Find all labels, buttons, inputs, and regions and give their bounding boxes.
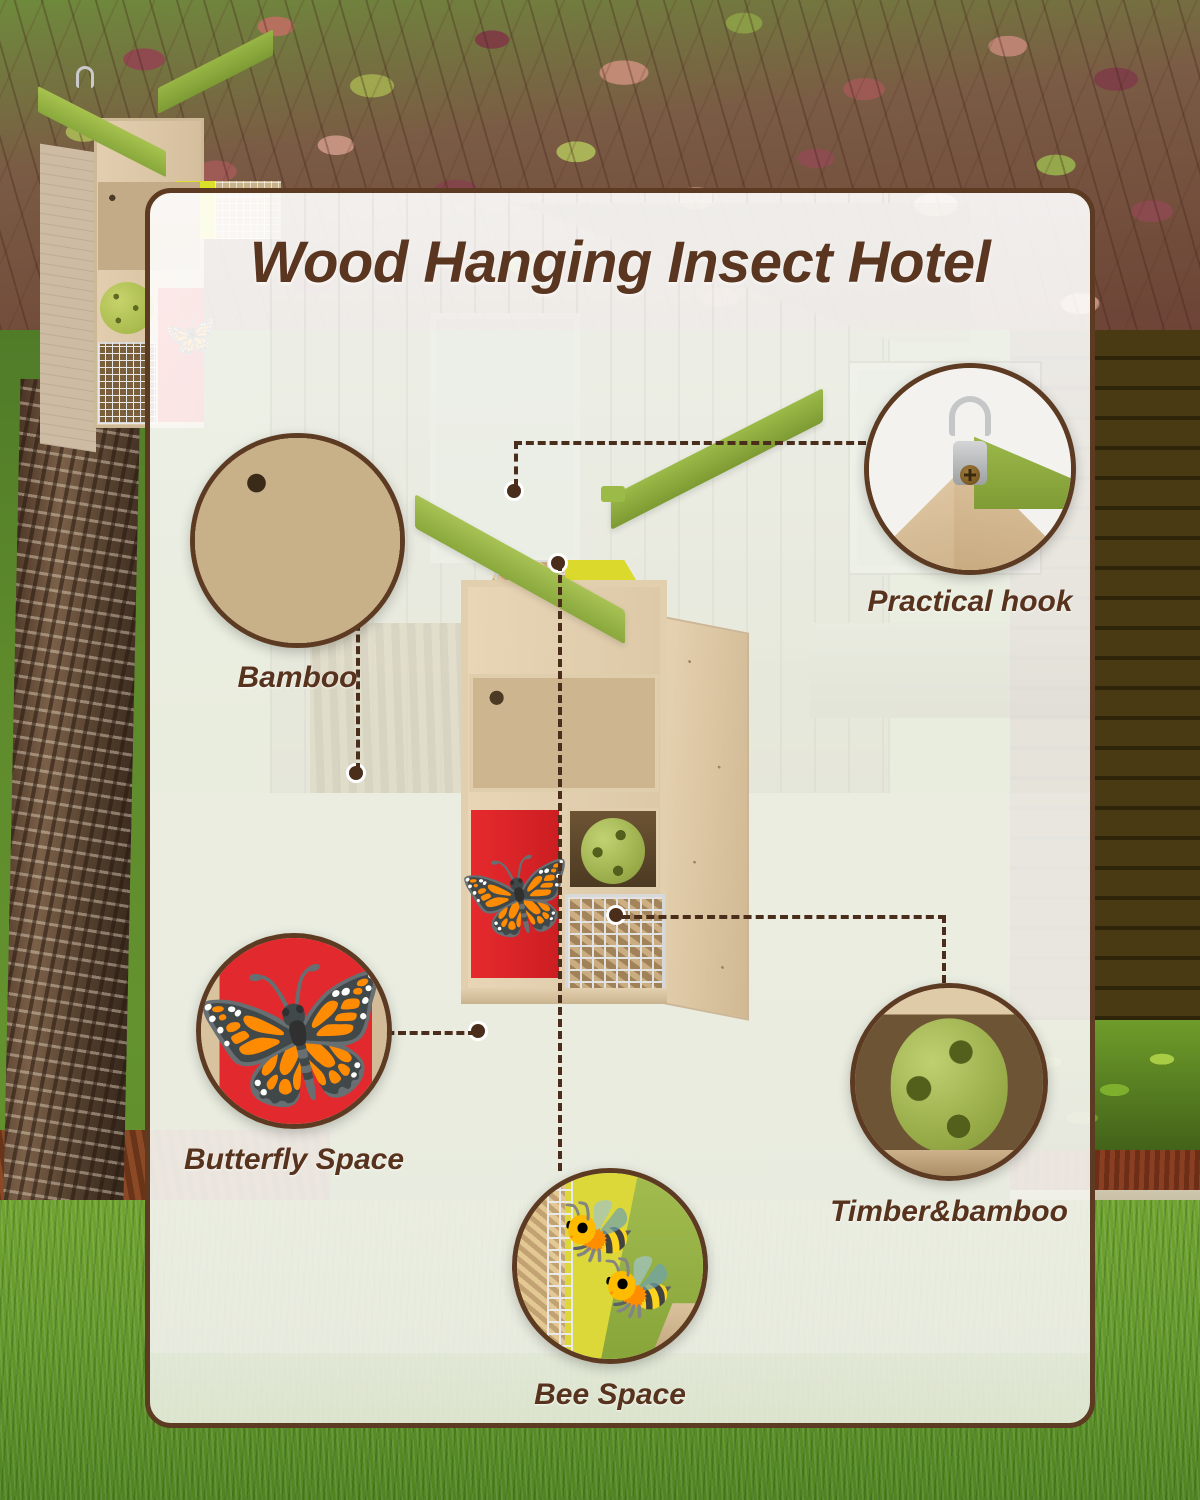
timber-log-compartment	[567, 808, 659, 890]
inset-side-wall	[40, 144, 96, 453]
callout-timber-bamboo[interactable]: Timber&bamboo	[850, 983, 1048, 1181]
callout-label-bamboo: Bamboo	[238, 661, 358, 695]
bee-cutout-icon: 🐝 🐝	[512, 1168, 708, 1364]
d-ring-hook-icon	[864, 363, 1076, 575]
drilled-log-icon	[850, 983, 1048, 1181]
callout-label-practical-hook: Practical hook	[867, 585, 1072, 619]
bamboo-tube-section	[469, 674, 659, 792]
product-side-wall	[663, 616, 749, 1021]
product-base	[461, 988, 667, 1004]
butterfly-cutout-icon: 🦋	[196, 933, 392, 1129]
connector-hook-horizontal	[514, 441, 866, 445]
bamboo-tubes-icon	[190, 433, 405, 648]
callout-label-timber-bamboo: Timber&bamboo	[830, 1195, 1068, 1229]
connector-bee-vertical	[558, 563, 562, 1171]
planter-box	[810, 623, 1095, 718]
callout-butterfly-space[interactable]: 🦋 Butterfly Space	[196, 933, 392, 1129]
butterfly-space-panel: 🦋	[471, 810, 559, 978]
butterfly-icon: 🦋	[196, 951, 390, 1111]
connector-hook-vertical	[514, 441, 518, 487]
page-title: Wood Hanging Insect Hotel	[150, 229, 1090, 296]
drilled-log-icon	[581, 818, 645, 884]
callout-label-bee-space: Bee Space	[534, 1378, 686, 1412]
infographic-panel: Wood Hanging Insect Hotel 🐝 🐝 🦋	[145, 188, 1095, 1428]
callout-bee-space[interactable]: 🐝 🐝 Bee Space	[512, 1168, 708, 1364]
butterfly-icon: 🦋	[458, 848, 573, 940]
connector-timber-horizontal	[622, 915, 946, 919]
inset-hook-icon	[76, 66, 94, 88]
callout-label-butterfly-space: Butterfly Space	[184, 1143, 404, 1177]
callout-practical-hook[interactable]: Practical hook	[864, 363, 1076, 575]
bee-icon: 🐝	[561, 1201, 636, 1261]
bee-icon: 🐝	[601, 1257, 676, 1317]
callout-bamboo[interactable]: Bamboo	[190, 433, 405, 648]
roof-ridge	[601, 486, 625, 502]
